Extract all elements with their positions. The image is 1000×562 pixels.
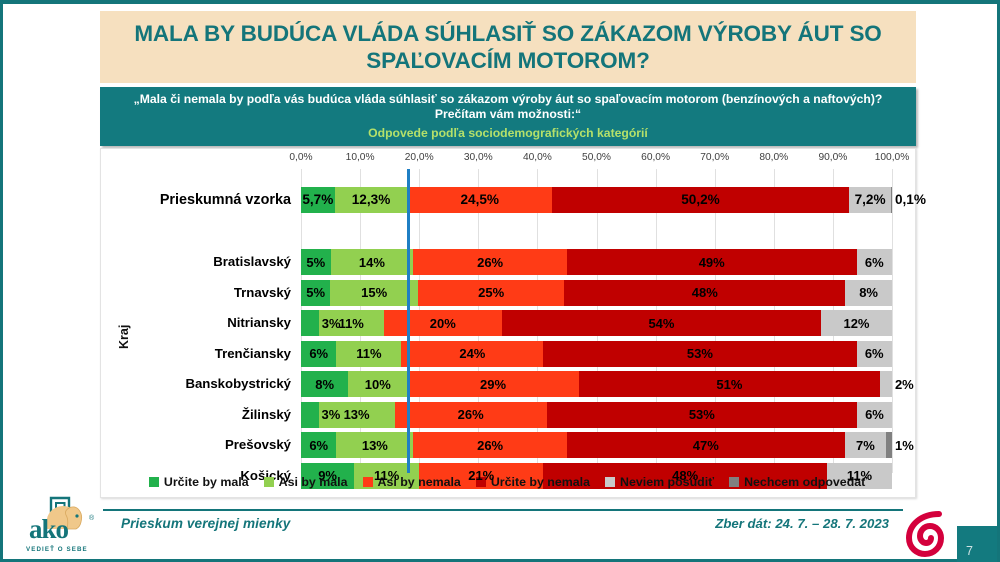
title-banner: MALA BY BUDÚCA VLÁDA SÚHLASIŤ SO ZÁKAZOM…	[100, 11, 916, 83]
bar-value-label: 54%	[648, 317, 674, 330]
bar-segment: 24,5%	[407, 187, 552, 213]
x-tick-label: 80,0%	[759, 152, 788, 163]
bar-segment: 12%	[821, 310, 892, 336]
bar-value-label: 11%	[339, 317, 364, 330]
page-number-badge: 7	[957, 526, 997, 562]
x-tick-label: 60,0%	[641, 152, 670, 163]
bar-value-label: 50,2%	[681, 193, 720, 207]
bar-value-label: 12%	[843, 317, 869, 330]
ako-tagline: VEDIEŤ O SEBE	[26, 546, 88, 553]
bar-value-label: 11%	[374, 469, 399, 482]
table-row: 3%11%20%54%12%	[301, 310, 892, 336]
bar-segment: 11%	[336, 341, 401, 367]
bar-segment: 5%	[301, 249, 331, 275]
bar-value-label: 8%	[315, 378, 334, 391]
bar-value-label: 48%	[692, 286, 718, 299]
bar-value-label: 10%	[365, 378, 391, 391]
question-line-2: Prečítam vám možnosti:“	[435, 107, 581, 123]
category-label: Nitriansky	[227, 316, 291, 329]
legend-swatch	[264, 477, 274, 487]
bar-segment: 10%	[348, 371, 407, 397]
bar-value-label: 13%	[344, 408, 370, 421]
bar-value-label: 48%	[672, 469, 698, 482]
legend-item[interactable]: Určite by mala	[149, 475, 249, 489]
bar-value-label: 26%	[477, 256, 503, 269]
chart-legend: Určite by malaAsi by malaAsi by nemalaUr…	[101, 475, 915, 489]
bar-segment: 20%	[384, 310, 502, 336]
bar-segment: 6%	[857, 249, 892, 275]
bar-segment: 12,3%	[335, 187, 408, 213]
bar-segment: 26%	[413, 432, 567, 458]
bar-value-label: 11%	[847, 469, 872, 482]
bar-value-label: 1%	[895, 439, 914, 452]
legend-swatch	[363, 477, 373, 487]
bar-segment: 15%	[330, 280, 418, 306]
legend-label: Určite by mala	[164, 475, 249, 489]
bar-value-label: 24%	[459, 347, 485, 360]
x-tick-label: 100,0%	[875, 152, 910, 163]
category-label: Bratislavský	[213, 255, 291, 268]
slide-root: MALA BY BUDÚCA VLÁDA SÚHLASIŤ SO ZÁKAZOM…	[0, 0, 1000, 562]
bar-segment: 24%	[401, 341, 543, 367]
ako-wordmark: ako	[29, 516, 68, 543]
ako-logo: ako ® VEDIEŤ O SEBE	[17, 496, 113, 562]
bar-value-label: 6%	[865, 408, 884, 421]
bar-value-label: 6%	[309, 347, 328, 360]
x-tick-label: 50,0%	[582, 152, 611, 163]
x-tick-label: 30,0%	[464, 152, 493, 163]
bar-value-label: 5%	[306, 256, 325, 269]
bar-value-label: 2%	[895, 378, 914, 391]
bar-value-label: 6%	[309, 439, 328, 452]
bar-value-label: 20%	[430, 317, 456, 330]
bar-value-label: 5%	[306, 286, 325, 299]
bar-value-label: 15%	[361, 286, 387, 299]
chart-panel: 0,0%10,0%20,0%30,0%40,0%50,0%60,0%70,0%8…	[100, 148, 916, 498]
bar-segment: 53%	[543, 341, 856, 367]
bar-segment: 54%	[502, 310, 821, 336]
x-tick-label: 0,0%	[289, 152, 312, 163]
bar-value-label: 7%	[856, 439, 875, 452]
bar-segment: 5%	[301, 280, 330, 306]
legend-swatch	[729, 477, 739, 487]
bar-value-label: 21%	[468, 469, 494, 482]
bar-segment: 25%	[418, 280, 564, 306]
page-title: MALA BY BUDÚCA VLÁDA SÚHLASIŤ SO ZÁKAZOM…	[128, 20, 888, 75]
bar-segment: 26%	[395, 402, 547, 428]
bar-value-label: 53%	[687, 347, 713, 360]
bar-segment: 47%	[567, 432, 845, 458]
bar-segment: 6%	[857, 402, 892, 428]
question-subtitle: Odpovede podľa sociodemografických kateg…	[368, 126, 648, 142]
bar-segment: 51%	[579, 371, 880, 397]
gridline	[892, 169, 893, 473]
table-row: 6%13%26%47%7%1%	[301, 432, 892, 458]
table-row: 3%13%26%53%6%	[301, 402, 892, 428]
bar-value-label: 53%	[689, 408, 715, 421]
question-banner: „Mala či nemala by podľa vás budúca vlád…	[100, 87, 916, 146]
bar-segment: 14%	[331, 249, 414, 275]
bar-segment: 6%	[301, 432, 336, 458]
bar-segment: 5,7%	[301, 187, 335, 213]
category-label: Prešovský	[225, 438, 291, 451]
bar-segment: 8%	[845, 280, 892, 306]
bar-segment: 3%	[301, 402, 319, 428]
bar-value-label: 51%	[716, 378, 742, 391]
bar-value-label: 12,3%	[352, 193, 391, 207]
bar-segment: 49%	[567, 249, 857, 275]
x-tick-label: 10,0%	[346, 152, 375, 163]
table-row: 8%10%29%51%2%	[301, 371, 892, 397]
bar-segment: 48%	[564, 280, 845, 306]
ako-registered-mark: ®	[89, 515, 94, 522]
category-label: Žilinský	[242, 408, 291, 421]
x-tick-label: 70,0%	[700, 152, 729, 163]
bar-value-label: 49%	[699, 256, 725, 269]
bar-value-label: 47%	[693, 439, 719, 452]
bar-value-label: 6%	[865, 347, 884, 360]
category-label: Prieskumná vzorka	[160, 193, 291, 207]
y-axis-title: Kraj	[117, 325, 131, 349]
question-line-1: „Mala či nemala by podľa vás budúca vlád…	[134, 92, 883, 108]
legend-swatch	[605, 477, 615, 487]
bar-segment: 13%	[336, 432, 413, 458]
bar-value-label: 29%	[480, 378, 506, 391]
table-row: 6%11%24%53%6%	[301, 341, 892, 367]
plot-area: 5,7%12,3%24,5%50,2%7,2%0,1%5%14%26%49%6%…	[301, 169, 892, 473]
bar-segment: 50,2%	[552, 187, 849, 213]
legend-swatch	[149, 477, 159, 487]
legend-label: Asi by mala	[279, 475, 348, 489]
category-label: Banskobystrický	[185, 377, 291, 390]
bar-segment: 3%	[301, 310, 319, 336]
bar-segment: 26%	[413, 249, 567, 275]
table-row: 5%14%26%49%6%	[301, 249, 892, 275]
x-tick-label: 20,0%	[405, 152, 434, 163]
footer-date: Zber dát: 24. 7. – 28. 7. 2023	[715, 516, 889, 531]
bar-segment: 6%	[301, 341, 336, 367]
bar-value-label: 13%	[362, 439, 388, 452]
category-labels-column: Kraj Prieskumná vzorkaBratislavskýTrnavs…	[101, 169, 301, 473]
bar-segment: 53%	[547, 402, 857, 428]
category-label: Trnavský	[234, 286, 291, 299]
footer-divider	[103, 509, 903, 511]
bar-value-label: 9%	[318, 469, 337, 482]
bar-value-label: 8%	[859, 286, 878, 299]
bar-value-label: 0,1%	[895, 193, 926, 207]
table-row: 5%15%25%48%8%	[301, 280, 892, 306]
bar-segment: 7,2%	[849, 187, 892, 213]
bar-segment: 7%	[845, 432, 886, 458]
bar-value-label: 26%	[458, 408, 484, 421]
legend-label: Určite by nemala	[491, 475, 590, 489]
bar-value-label: 7,2%	[855, 193, 886, 207]
footer-caption: Prieskum verejnej mienky	[121, 516, 290, 531]
bar-segment: 2%	[880, 371, 892, 397]
bar-value-label: 6%	[865, 256, 884, 269]
bar-value-label: 14%	[359, 256, 385, 269]
bar-segment: 8%	[301, 371, 348, 397]
bar-segment: 1%	[886, 432, 892, 458]
bar-segment: 29%	[407, 371, 578, 397]
category-label: Trenčiansky	[215, 347, 291, 360]
table-row: 5,7%12,3%24,5%50,2%7,2%0,1%	[301, 187, 892, 213]
x-tick-label: 90,0%	[818, 152, 847, 163]
bar-segment: 0,1%	[891, 187, 892, 213]
legend-label: Neviem posúdiť	[620, 475, 714, 489]
x-axis-tick-labels: 0,0%10,0%20,0%30,0%40,0%50,0%60,0%70,0%8…	[101, 152, 915, 168]
bar-value-label: 24,5%	[460, 193, 499, 207]
swirl-logo-icon	[901, 507, 953, 559]
bar-value-label: 3%	[322, 408, 341, 421]
x-tick-label: 40,0%	[523, 152, 552, 163]
bar-value-label: 5,7%	[302, 193, 333, 207]
bar-value-label: 11%	[356, 347, 381, 360]
reference-line	[407, 169, 410, 473]
bar-value-label: 25%	[478, 286, 504, 299]
bar-segment: 6%	[857, 341, 892, 367]
bar-value-label: 26%	[477, 439, 503, 452]
